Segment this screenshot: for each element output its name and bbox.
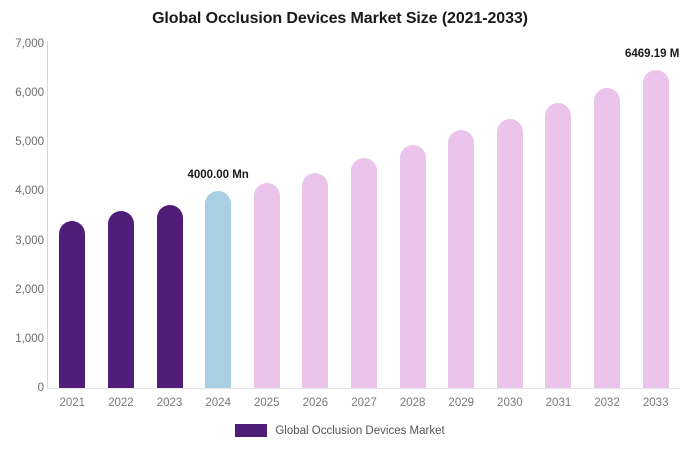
y-tick-label: 7,000: [2, 38, 44, 50]
y-axis-line: [47, 41, 48, 389]
legend-swatch-icon: [235, 424, 267, 437]
bar-2021[interactable]: [59, 221, 85, 388]
bar-fill: [400, 145, 426, 388]
bar-fill: [448, 130, 474, 388]
bar-2028[interactable]: [400, 145, 426, 388]
bar-fill: [351, 158, 377, 388]
bar-fill: [497, 119, 523, 388]
chart-legend: Global Occlusion Devices Market: [0, 424, 680, 437]
bar-fill: [157, 205, 183, 388]
legend-label: Global Occlusion Devices Market: [275, 425, 444, 437]
bar-fill: [545, 103, 571, 388]
y-tick-label: 1,000: [2, 333, 44, 345]
bar-fill: [643, 70, 669, 388]
bar-2027[interactable]: [351, 158, 377, 388]
x-axis-line: [48, 388, 680, 389]
bar-fill: [254, 183, 280, 388]
y-tick-label: 0: [2, 382, 44, 394]
y-tick-label: 5,000: [2, 136, 44, 148]
y-axis-ticks: 7,0006,0005,0004,0003,0002,0001,0000: [0, 0, 44, 450]
bar-2026[interactable]: [302, 173, 328, 388]
bar-2024[interactable]: [205, 191, 231, 388]
bar-fill: [205, 191, 231, 388]
bar-2032[interactable]: [594, 88, 620, 388]
bar-fill: [59, 221, 85, 388]
y-tick-label: 2,000: [2, 284, 44, 296]
bar-fill: [594, 88, 620, 388]
x-tick-label-2033: 2033: [626, 397, 680, 409]
chart-container: Global Occlusion Devices Market Size (20…: [0, 0, 680, 450]
chart-title: Global Occlusion Devices Market Size (20…: [0, 10, 680, 28]
bar-2023[interactable]: [157, 205, 183, 388]
bar-2033[interactable]: [643, 70, 669, 388]
y-tick-label: 3,000: [2, 235, 44, 247]
bar-fill: [302, 173, 328, 388]
bar-2022[interactable]: [108, 211, 134, 388]
bar-fill: [108, 211, 134, 388]
legend-item[interactable]: Global Occlusion Devices Market: [235, 424, 444, 437]
y-tick-label: 6,000: [2, 87, 44, 99]
y-tick-label: 4,000: [2, 185, 44, 197]
bar-2030[interactable]: [497, 119, 523, 388]
data-label-2033: 6469.19 Mn: [616, 48, 680, 60]
bar-2029[interactable]: [448, 130, 474, 388]
bar-2031[interactable]: [545, 103, 571, 388]
bar-2025[interactable]: [254, 183, 280, 388]
data-label-2024: 4000.00 Mn: [178, 169, 258, 181]
